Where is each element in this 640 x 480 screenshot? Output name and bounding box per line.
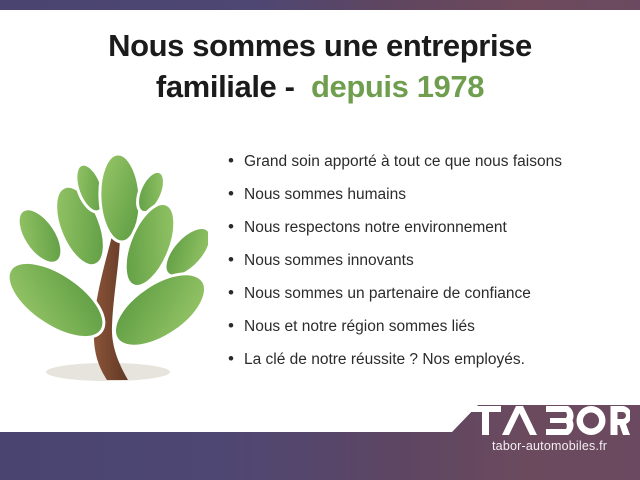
page-title: Nous sommes une entreprise familiale - d… xyxy=(0,26,640,108)
bullet-marker-icon: • xyxy=(228,218,244,235)
bullet-marker-icon: • xyxy=(228,350,244,367)
headline-line-1: Nous sommes une entreprise xyxy=(0,26,640,67)
slide-canvas: Nous sommes une entreprise familiale - d… xyxy=(0,0,640,480)
brand-tagline[interactable]: tabor-automobiles.fr xyxy=(492,439,635,453)
list-item-label: Nous sommes humains xyxy=(244,187,406,203)
bullet-marker-icon: • xyxy=(228,152,244,169)
list-item: • Nous sommes un partenaire de confiance xyxy=(228,284,628,317)
list-item-label: La clé de notre réussite ? Nos employés. xyxy=(244,352,525,368)
list-item-label: Nous sommes innovants xyxy=(244,253,414,269)
bullet-marker-icon: • xyxy=(228,185,244,202)
list-item-label: Nous sommes un partenaire de confiance xyxy=(244,286,531,302)
footer-band: tabor-automobiles.fr xyxy=(0,398,640,480)
headline-line-2: familiale - depuis 1978 xyxy=(0,67,640,108)
list-item-label: Nous et notre région sommes liés xyxy=(244,319,475,335)
list-item: • Nous et notre région sommes liés xyxy=(228,317,628,350)
list-item: • La clé de notre réussite ? Nos employé… xyxy=(228,350,628,383)
list-item: • Nous sommes innovants xyxy=(228,251,628,284)
list-item: • Nous sommes humains xyxy=(228,185,628,218)
list-item-label: Grand soin apporté à tout ce que nous fa… xyxy=(244,154,562,170)
brand-logo[interactable]: tabor-automobiles.fr xyxy=(470,406,635,453)
tabor-wordmark-icon xyxy=(470,406,630,436)
bullet-marker-icon: • xyxy=(228,317,244,334)
top-accent-bar xyxy=(0,0,640,10)
list-item-label: Nous respectons notre environnement xyxy=(244,220,507,236)
list-item: • Grand soin apporté à tout ce que nous … xyxy=(228,152,628,185)
family-tree-illustration xyxy=(8,140,208,392)
bullet-marker-icon: • xyxy=(228,284,244,301)
list-item: • Nous respectons notre environnement xyxy=(228,218,628,251)
value-proposition-list: • Grand soin apporté à tout ce que nous … xyxy=(228,152,628,383)
headline-accent: depuis 1978 xyxy=(311,69,484,104)
bullet-marker-icon: • xyxy=(228,251,244,268)
headline-prefix: familiale xyxy=(156,69,276,104)
headline-dash: - xyxy=(285,69,295,104)
